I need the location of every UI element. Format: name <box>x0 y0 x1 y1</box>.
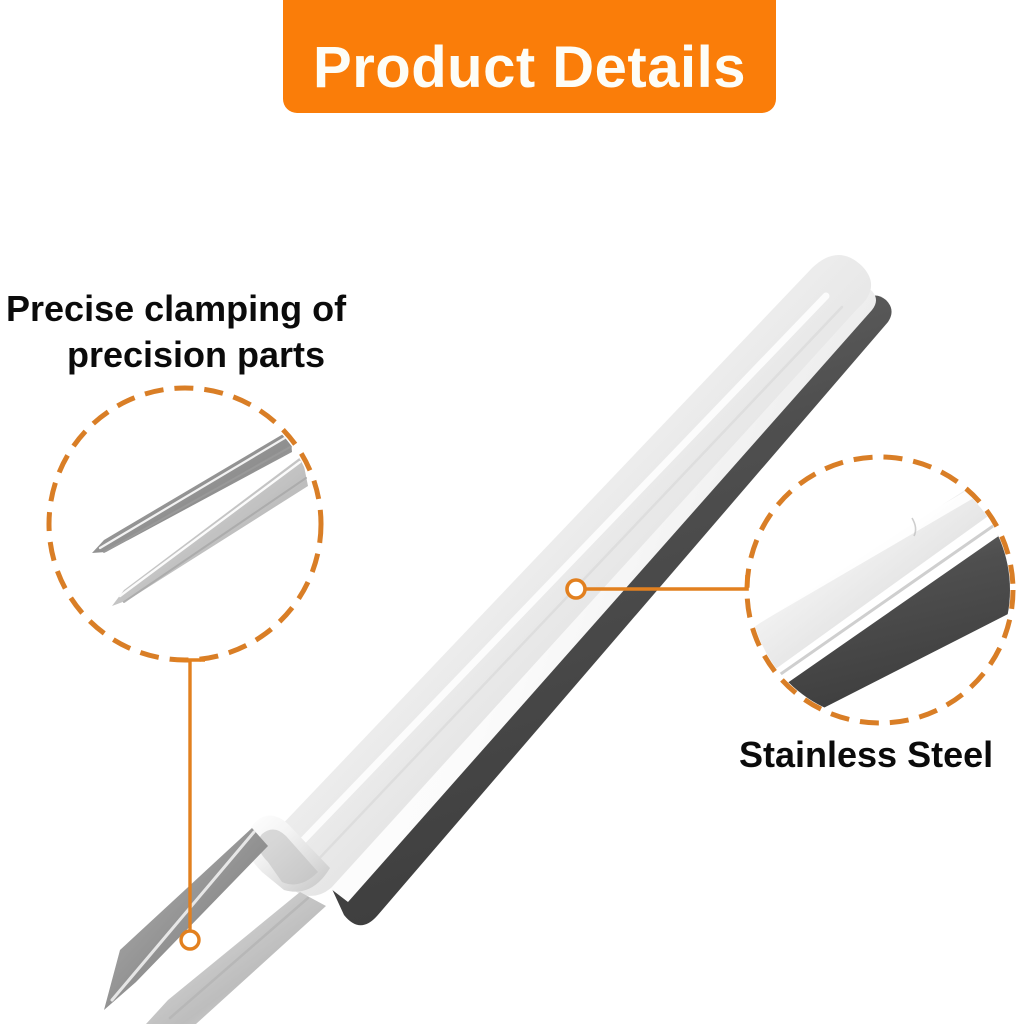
product-details-infographic: Product Details Precise clamping of prec… <box>0 0 1024 1024</box>
callout-right-leader-line <box>584 575 747 589</box>
callout-overlay <box>0 0 1024 1024</box>
callout-left[interactable] <box>49 388 321 949</box>
callout-right-label-line1: Stainless Steel <box>739 734 993 775</box>
callout-right-dashed-circle <box>747 457 1013 723</box>
callout-left-label-line1: Precise clamping of <box>6 286 386 332</box>
callout-right[interactable] <box>567 457 1013 723</box>
header-banner: Product Details <box>283 0 776 113</box>
callout-right-label: Stainless Steel <box>739 732 993 778</box>
callout-right-marker <box>567 580 585 598</box>
callout-left-marker <box>181 931 199 949</box>
callout-left-dashed-circle <box>49 388 321 660</box>
callout-left-label-line2: precision parts <box>6 332 386 378</box>
page-title: Product Details <box>313 39 746 97</box>
callout-left-label: Precise clamping of precision parts <box>6 286 386 378</box>
